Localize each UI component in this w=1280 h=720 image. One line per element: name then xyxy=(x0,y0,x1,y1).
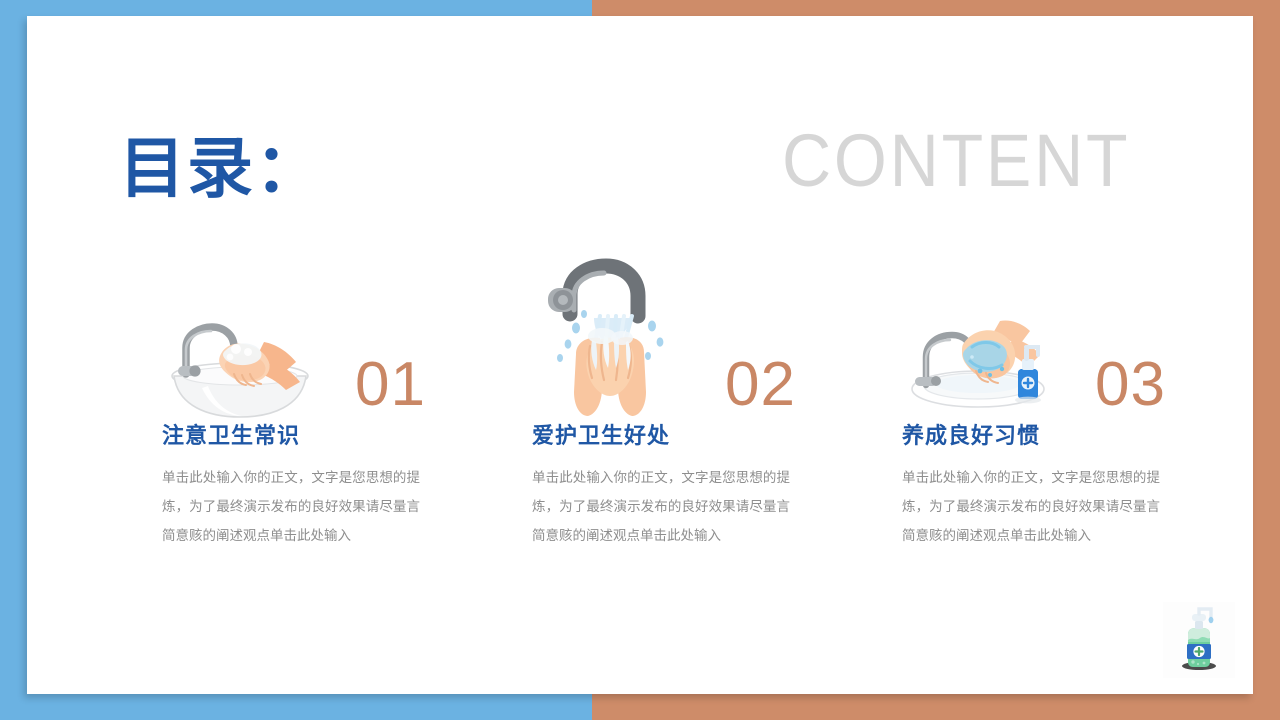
soap-handwashing-icon xyxy=(906,313,1054,418)
content-item-3-header: 03 xyxy=(902,248,1162,418)
hands-under-faucet-icon xyxy=(540,258,680,418)
content-item-1[interactable]: 01 xyxy=(162,248,422,418)
handwashing-sink-icon xyxy=(164,318,312,418)
content-item-1-title: 注意卫生常识 xyxy=(162,418,422,450)
page-title-watermark: CONTENT xyxy=(782,124,1130,198)
content-item-2-header: 02 xyxy=(532,248,792,418)
hand-sanitizer-bottle-icon xyxy=(1163,602,1235,678)
page-title: 目录： xyxy=(119,134,323,203)
slide-canvas: 目录： CONTENT xyxy=(0,0,1280,720)
content-item-1-header: 01 xyxy=(162,248,422,418)
content-item-1-body: 单击此处输入你的正文，文字是您思想的提炼，为了最终演示发布的良好效果请尽量言简意… xyxy=(162,463,420,550)
content-item-2-number: 02 xyxy=(725,354,796,416)
content-item-2-title: 爱护卫生好处 xyxy=(532,418,792,450)
content-item-2[interactable]: 02 xyxy=(532,248,792,418)
content-item-3-body: 单击此处输入你的正文，文字是您思想的提炼，为了最终演示发布的良好效果请尽量言简意… xyxy=(902,463,1160,550)
content-item-1-number: 01 xyxy=(355,354,426,416)
content-item-3-number: 03 xyxy=(1095,354,1166,416)
content-item-3[interactable]: 03 xyxy=(902,248,1162,418)
content-item-3-title: 养成良好习惯 xyxy=(902,418,1162,450)
content-item-2-body: 单击此处输入你的正文，文字是您思想的提炼，为了最终演示发布的良好效果请尽量言简意… xyxy=(532,463,790,550)
